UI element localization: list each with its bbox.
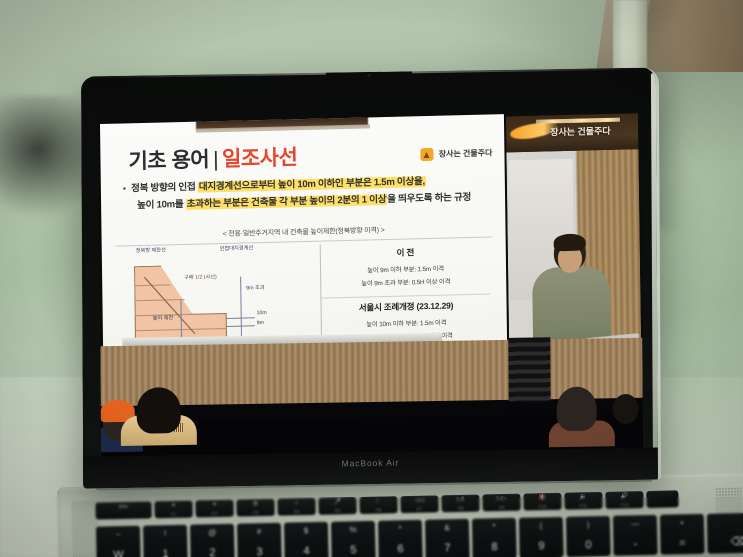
key-F10[interactable]: 🔇F10 [523, 493, 561, 511]
key-glyph-sub: 6 [378, 543, 422, 556]
bullet-marker: • [123, 181, 126, 195]
key-glyph-top: 🔊 [605, 493, 643, 501]
key-=[interactable]: += [660, 514, 705, 555]
key-glyph-top: ☾ [359, 498, 397, 506]
laptop-lid: 기초 용어|일조사선 장사는 건물주다 • 정복 방향의 인접 대지경계선으로부… [81, 67, 661, 488]
key-F8[interactable]: ▷‖F8 [441, 495, 479, 513]
house-logo-icon [421, 148, 434, 161]
key-glyph-top: 🎤 [318, 499, 356, 507]
line1-highlight: 대지경계선으로부터 높이 10m 이하인 부분은 1.5m 이상을, [198, 176, 426, 193]
key-8[interactable]: *8 [472, 518, 517, 557]
key-glyph-sub: 2 [190, 547, 234, 557]
keyboard-number-row[interactable]: ~W!1@2#3$4%5^6&7*8(9)0—-+=⌫ [96, 512, 743, 557]
laptop-display[interactable]: 기초 용어|일조사선 장사는 건물주다 • 정복 방향의 인접 대지경계선으로부… [99, 108, 643, 457]
key-glyph-top: + [660, 519, 704, 527]
key-glyph-top: ^ [378, 525, 422, 533]
key-13[interactable] [646, 490, 678, 508]
key-F12[interactable]: 🔊F12 [605, 491, 643, 509]
key-2[interactable]: @2 [190, 524, 235, 557]
presenter-hair [554, 234, 586, 252]
camera-banner: 장사는 건물주다 [506, 113, 638, 152]
key-W[interactable]: ~W [96, 526, 141, 557]
banner-text: 장사는 건물주다 [550, 124, 611, 138]
key-glyph-sub: 8 [472, 541, 516, 554]
key-glyph-top: — [613, 520, 657, 528]
line2-plain-a: 높이 10m를 [137, 199, 186, 211]
label-boundary-line: 인접대지경계선 [220, 244, 254, 252]
key-4[interactable]: $4 [284, 522, 329, 557]
key-glyph-sub [647, 506, 679, 507]
key-7[interactable]: &7 [425, 519, 470, 557]
key-glyph-top: ☀ [154, 503, 192, 511]
label-slope-ratio: 구배 1/2 (사선) [184, 273, 217, 281]
brand-text: 장사는 건물주다 [439, 147, 493, 159]
key-F2[interactable]: ☀F2 [195, 500, 233, 518]
figure-caption: < 전용·일반주거지역 내 건축물 높이제한(정북방향 이격) > [101, 222, 505, 242]
key-0[interactable]: )0 [566, 516, 611, 557]
label-over-9m: 9m 초과 [246, 284, 264, 291]
setback-slope-line [144, 275, 221, 335]
key-glyph-sub: 5 [331, 544, 375, 557]
key-glyph-sub: 1 [143, 548, 187, 557]
macbook-air-label: MacBook Air [83, 454, 658, 473]
key-glyph-top: ▷‖ [441, 497, 479, 505]
table-row-line: 높이 9m 초과 부분: 0.5H 이상 이격 [327, 275, 484, 292]
key-glyph-sub: - [613, 538, 657, 551]
key-glyph-top: ▷▷ [482, 496, 520, 504]
keyboard[interactable]: esc☀F1☀F2⊞F3⌕F4🎤F5☾F6◁◁F7▷‖F8▷▷F9🔇F10🔉F1… [95, 479, 723, 557]
table-row-header: 이 전 [327, 245, 484, 261]
key-glyph-sub: F11 [565, 503, 603, 509]
lid-edge-highlight [651, 73, 658, 469]
slide-title-divider: | [209, 148, 222, 171]
key-F5[interactable]: 🎤F5 [318, 497, 356, 515]
speaker-grille-left [71, 500, 98, 557]
label-9m: 9m [257, 320, 264, 326]
key-glyph-sub: W [96, 549, 140, 557]
macbook-air-laptop: esc☀F1☀F2⊞F3⌕F4🎤F5☾F6◁◁F7▷‖F8▷▷F9🔇F10🔉F1… [0, 0, 743, 557]
key-glyph-sub: F10 [524, 504, 562, 510]
key-9[interactable]: (9 [519, 517, 564, 557]
key-glyph-top: % [331, 526, 375, 534]
audience-foreground [101, 380, 643, 457]
key-glyph-sub: F8 [442, 506, 480, 512]
key-glyph-top: esc [95, 503, 151, 511]
key-glyph-top [646, 492, 678, 493]
key-glyph-top: $ [284, 527, 328, 535]
audience-person-2-head [557, 386, 597, 431]
key-glyph-top: * [472, 523, 516, 531]
key-F6[interactable]: ☾F6 [359, 496, 397, 514]
key-glyph-top: 🔉 [564, 494, 602, 502]
line2-highlight: 초과하는 부분은 건축물 각 부분 높이의 2분의 1 이상 [186, 194, 388, 210]
key-glyph-sub: 3 [237, 546, 281, 557]
webcam-icon [367, 74, 370, 77]
key-glyph-sub: F4 [278, 509, 316, 515]
slope-svg [144, 275, 221, 335]
lecture-video[interactable]: 기초 용어|일조사선 장사는 건물주다 • 정복 방향의 인접 대지경계선으로부… [99, 108, 643, 457]
slide-body: • 정복 방향의 인접 대지경계선으로부터 높이 10m 이하인 부분은 1.5… [123, 172, 493, 213]
key-glyph-top: & [425, 524, 469, 532]
key-glyph-sub: 0 [566, 539, 610, 552]
key-F4[interactable]: ⌕F4 [277, 498, 315, 516]
key-glyph-sub: F1 [155, 512, 193, 518]
key--[interactable]: —- [613, 515, 658, 556]
key-glyph-sub: F7 [401, 506, 439, 512]
photo-scene: esc☀F1☀F2⊞F3⌕F4🎤F5☾F6◁◁F7▷‖F8▷▷F9🔇F10🔉F1… [0, 0, 743, 557]
key-glyph-top: @ [190, 529, 234, 537]
line2-plain-b: 을 띄우도록 하는 규정 [387, 192, 471, 205]
key-glyph-sub: F6 [360, 507, 398, 513]
key-F7[interactable]: ◁◁F7 [400, 495, 438, 513]
key-5[interactable]: %5 [331, 521, 376, 557]
key-glyph-top: ! [143, 530, 187, 538]
key-glyph-sub [96, 517, 152, 518]
audience-person-1-head [137, 387, 181, 434]
stairs [508, 337, 550, 402]
key-1[interactable]: !1 [143, 525, 188, 557]
key-glyph-top [707, 517, 743, 518]
key-6[interactable]: ^6 [378, 520, 423, 557]
key-F3[interactable]: ⊞F3 [236, 499, 274, 517]
table-row: 이 전 높이 9m 이하 부분: 1.5m 이격 높이 9m 초과 부분: 0.… [321, 241, 491, 298]
label-10m: 10m [257, 310, 267, 316]
key-glyph-sub: 4 [284, 545, 328, 557]
key-glyph-top: ) [566, 521, 610, 529]
key-glyph-top: ⊞ [236, 501, 274, 509]
webcam-notch [325, 71, 411, 79]
key-glyph-top: # [237, 528, 281, 536]
key-F11[interactable]: 🔉F11 [564, 492, 602, 510]
key-glyph-sub: F12 [606, 502, 644, 508]
key-glyph-sub: = [660, 537, 704, 550]
label-restriction-line: 정북방 제한선 [136, 246, 166, 254]
key-F1[interactable]: ☀F1 [154, 501, 192, 519]
key-glyph-top: ☀ [195, 502, 233, 510]
key-glyph-sub: 9 [519, 540, 563, 553]
slide-title-accent: 일조사선 [222, 146, 298, 171]
label-building-height: 높이 제한 [153, 314, 174, 322]
key-⌫[interactable]: ⌫ [707, 512, 743, 553]
key-glyph-sub: F9 [483, 505, 521, 511]
slide-title: 기초 용어|일조사선 [128, 141, 297, 175]
slide-title-main: 기초 용어 [128, 148, 209, 173]
key-glyph-sub: F2 [196, 511, 234, 517]
table-row-header: 서울시 조례개정 (23.12.29) [328, 299, 485, 315]
key-F9[interactable]: ▷▷F9 [482, 494, 520, 512]
key-glyph-top: ( [519, 522, 563, 530]
key-glyph-sub: ⌫ [707, 534, 743, 548]
key-esc[interactable]: esc [95, 501, 151, 519]
key-glyph-top: ~ [96, 531, 140, 539]
line1-plain: 정복 방향의 인접 [131, 182, 198, 195]
key-glyph-sub: F3 [237, 510, 275, 516]
key-3[interactable]: #3 [237, 523, 282, 557]
key-glyph-top: ⌕ [277, 500, 315, 508]
key-glyph-sub: F5 [319, 508, 357, 514]
key-glyph-top: 🔇 [523, 495, 561, 503]
key-glyph-top: ◁◁ [400, 497, 438, 505]
slide-brand-logo: 장사는 건물주다 [421, 146, 493, 161]
key-glyph-sub: 7 [425, 542, 469, 555]
